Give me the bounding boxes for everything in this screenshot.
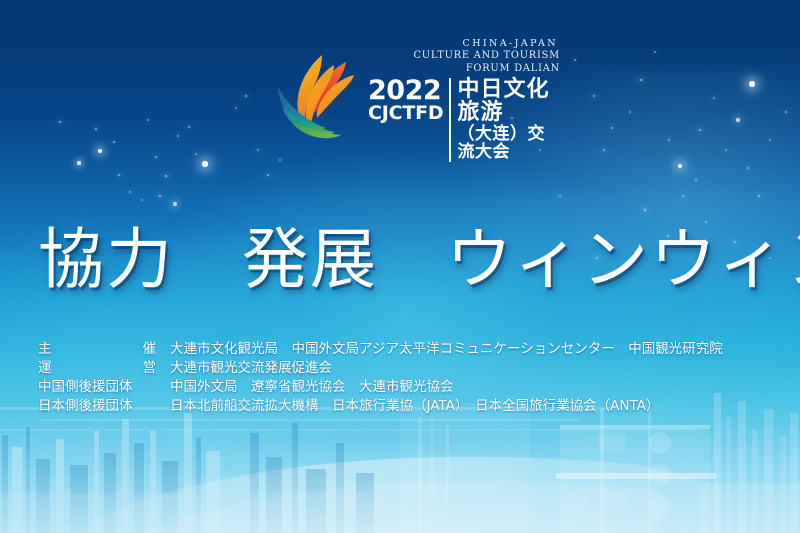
credits-block: 主催大連市文化観光局 中国外文局アジア太平洋コミュニケーションセンター 中国観光…	[38, 340, 778, 416]
star-icon	[95, 128, 97, 130]
event-logo: CHINA-JAPAN CULTURE AND TOURISM FORUM DA…	[272, 48, 562, 148]
credit-value: 中国外文局 遼寧省観光協会 大連市観光協会	[170, 378, 778, 397]
star-icon	[159, 195, 162, 198]
poster-headline: 協力 発展 ウィンウィン	[38, 206, 768, 302]
star-icon	[682, 195, 684, 197]
star-icon	[668, 139, 670, 141]
poster-canvas: CHINA-JAPAN CULTURE AND TOURISM FORUM DA…	[0, 0, 800, 533]
star-icon	[574, 59, 576, 61]
credit-row: 運営大連市観光交流発展促進会	[38, 359, 778, 378]
star-icon	[603, 149, 605, 151]
star-icon	[611, 127, 613, 129]
credit-value: 大連市文化観光局 中国外文局アジア太平洋コミュニケーションセンター 中国観光研究…	[170, 340, 778, 359]
logo-cn-line2: （大连）交流大会	[457, 125, 562, 162]
star-icon	[769, 139, 771, 141]
logo-en-line1: CHINA-JAPAN	[368, 38, 562, 50]
star-icon	[654, 51, 656, 53]
star-icon	[640, 79, 643, 82]
star-icon	[279, 159, 281, 161]
star-icon	[267, 174, 270, 177]
credit-label-char: 営	[143, 359, 157, 378]
credit-row: 主催大連市文化観光局 中国外文局アジア太平洋コミュニケーションセンター 中国観光…	[38, 340, 778, 359]
star-icon	[629, 111, 631, 113]
star-icon	[749, 81, 754, 86]
logo-abbr: CJCTFD	[368, 104, 443, 124]
logo-year: 2022	[368, 78, 441, 104]
star-icon	[165, 175, 167, 177]
credit-row: 中国側後援団体中国外文局 遼寧省観光協会 大連市観光協会	[38, 378, 778, 397]
star-icon	[98, 149, 102, 153]
star-icon	[235, 107, 237, 109]
star-icon	[155, 156, 157, 158]
star-icon	[713, 97, 715, 99]
star-icon	[593, 95, 595, 97]
credit-label: 運営	[38, 359, 156, 378]
credit-label-char: 催	[143, 340, 157, 359]
star-icon	[245, 95, 247, 97]
star-icon	[736, 118, 739, 121]
star-icon	[177, 135, 179, 137]
star-icon	[113, 141, 115, 143]
star-icon	[118, 174, 120, 176]
cjctfd-flame-emblem-icon	[272, 51, 364, 146]
star-icon	[77, 161, 80, 164]
star-icon	[202, 161, 207, 166]
credit-label-char: 主	[38, 340, 52, 359]
star-icon	[725, 149, 727, 151]
star-icon	[141, 199, 143, 201]
credit-label: 日本側後援団体	[38, 397, 156, 416]
star-icon	[758, 195, 760, 197]
credit-value: 大連市観光交流発展促進会	[170, 359, 778, 378]
star-icon	[699, 129, 702, 132]
star-icon	[785, 111, 787, 113]
star-icon	[59, 121, 61, 123]
star-icon	[747, 167, 749, 169]
logo-cn-line1: 中日文化旅游	[457, 78, 562, 124]
credit-label-char: 運	[38, 359, 52, 378]
star-icon	[559, 195, 561, 197]
star-icon	[147, 119, 149, 121]
star-icon	[695, 179, 697, 181]
credit-value: 日本北前船交流拡大機構 日本旅行業協（JATA） 日本全国旅行業協会（ANTA）	[170, 397, 778, 416]
credit-label: 中国側後援団体	[38, 378, 156, 397]
star-icon	[257, 149, 259, 151]
star-icon	[195, 153, 197, 155]
credit-label: 主催	[38, 340, 156, 359]
star-icon	[188, 126, 190, 128]
star-icon	[678, 164, 683, 169]
credit-row: 日本側後援団体日本北前船交流拡大機構 日本旅行業協（JATA） 日本全国旅行業協…	[38, 397, 778, 416]
logo-en-line2: CULTURE AND TOURISM FORUM DALIAN	[368, 50, 562, 75]
star-icon	[129, 191, 131, 193]
